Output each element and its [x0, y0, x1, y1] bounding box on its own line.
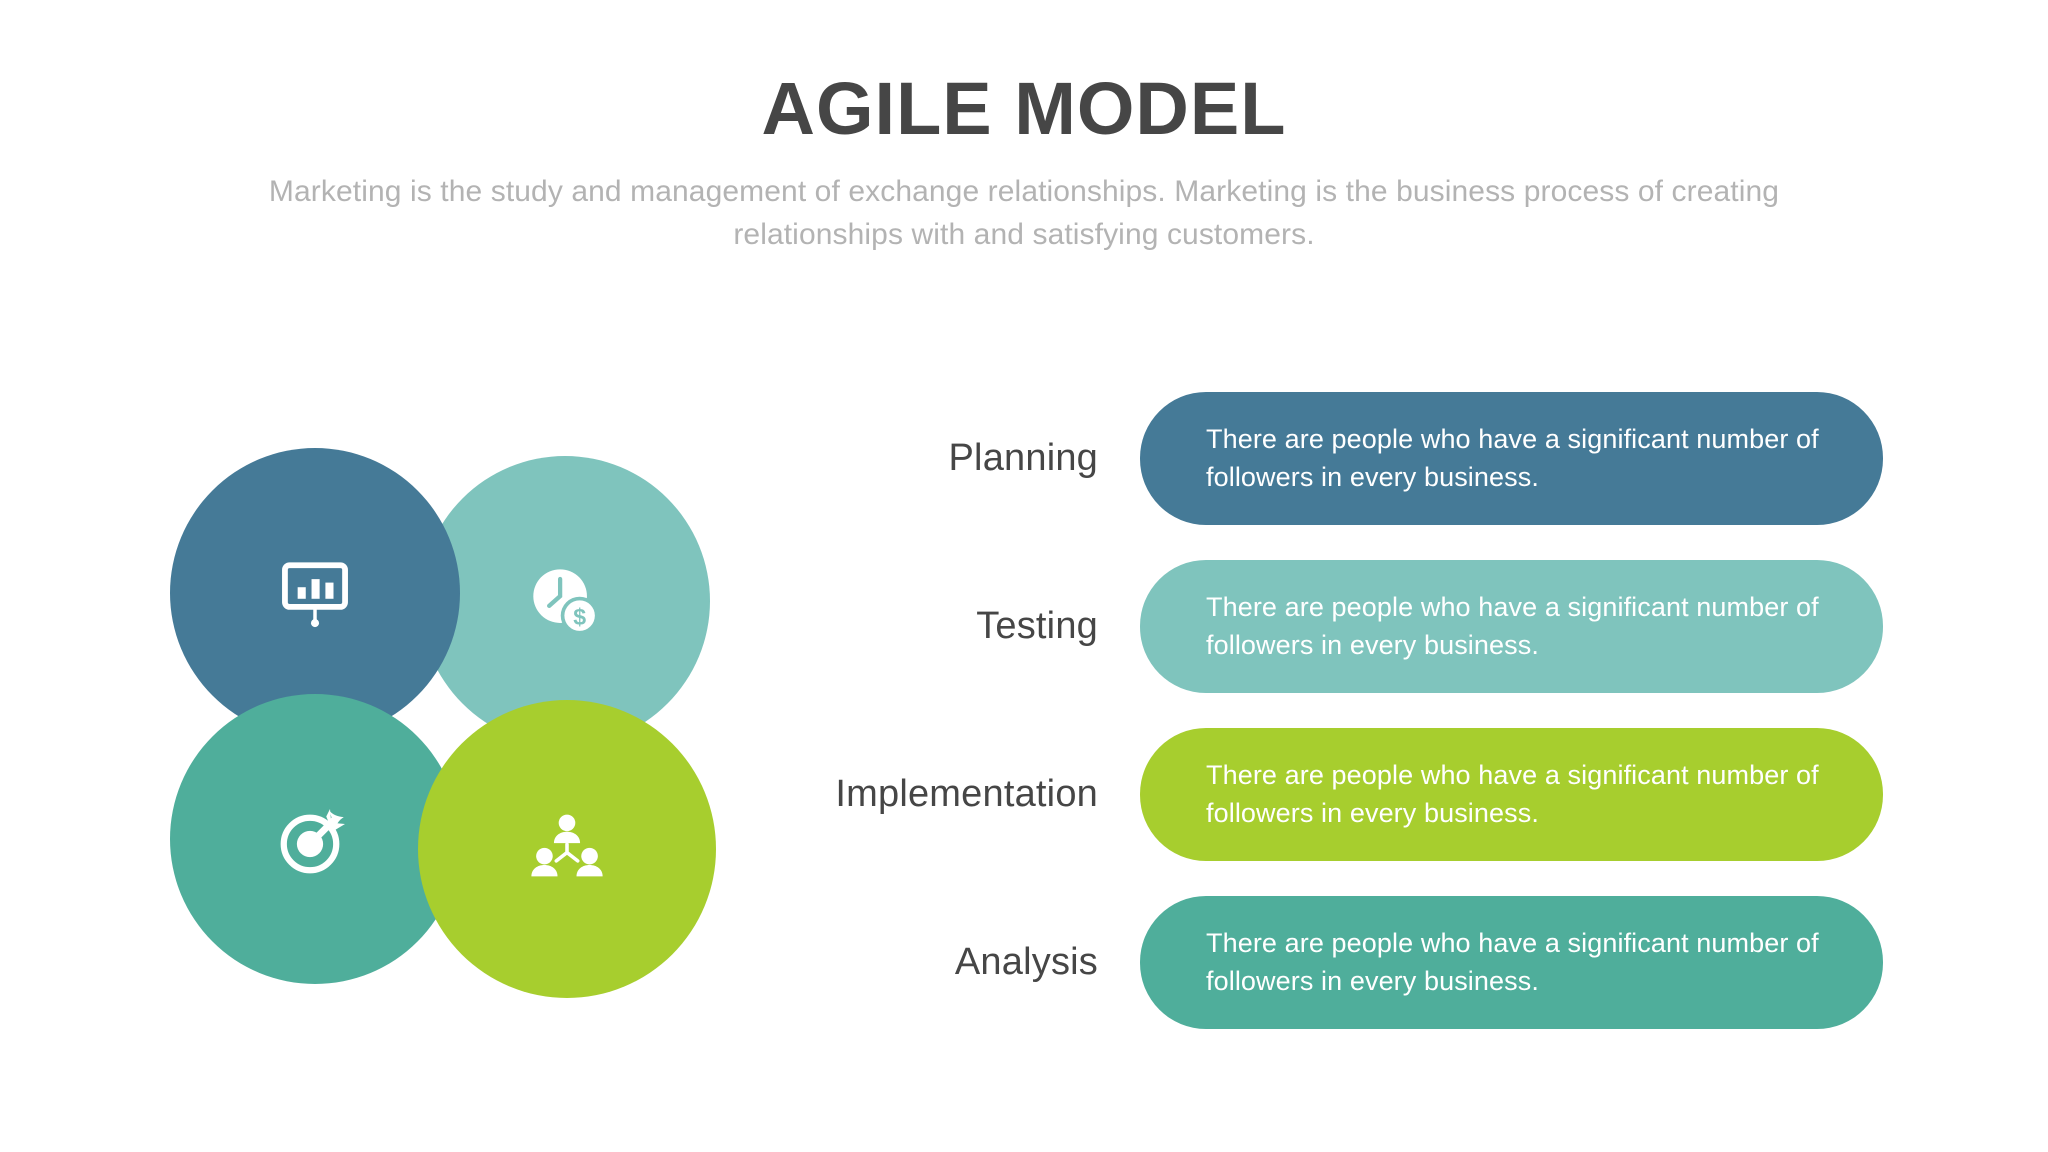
slide-canvas: AGILE MODEL Marketing is the study and m…	[0, 0, 2048, 1152]
header: AGILE MODEL Marketing is the study and m…	[0, 70, 2048, 257]
team-network-icon	[529, 811, 605, 887]
row-description: There are people who have a significant …	[1206, 421, 1833, 496]
target-dart-icon	[275, 799, 355, 879]
row-pill-implementation[interactable]: There are people who have a significant …	[1140, 728, 1883, 861]
row-label-planning: Planning	[700, 392, 1120, 525]
row-pill-testing[interactable]: There are people who have a significant …	[1140, 560, 1883, 693]
row-pill-analysis[interactable]: There are people who have a significant …	[1140, 896, 1883, 1029]
circle-analysis[interactable]	[170, 694, 460, 984]
page-title: AGILE MODEL	[0, 70, 2048, 148]
presentation-chart-icon	[278, 556, 352, 630]
row-label-analysis: Analysis	[700, 896, 1120, 1029]
row-label-testing: Testing	[700, 560, 1120, 693]
svg-text:$: $	[573, 604, 586, 630]
row-description: There are people who have a significant …	[1206, 925, 1833, 1000]
row-description: There are people who have a significant …	[1206, 589, 1833, 664]
clock-money-icon: $	[526, 562, 604, 640]
row-label-implementation: Implementation	[700, 728, 1120, 861]
page-subtitle: Marketing is the study and management of…	[214, 170, 1834, 257]
row-description: There are people who have a significant …	[1206, 757, 1833, 832]
circle-implementation[interactable]	[418, 700, 716, 998]
row-pill-planning[interactable]: There are people who have a significant …	[1140, 392, 1883, 525]
